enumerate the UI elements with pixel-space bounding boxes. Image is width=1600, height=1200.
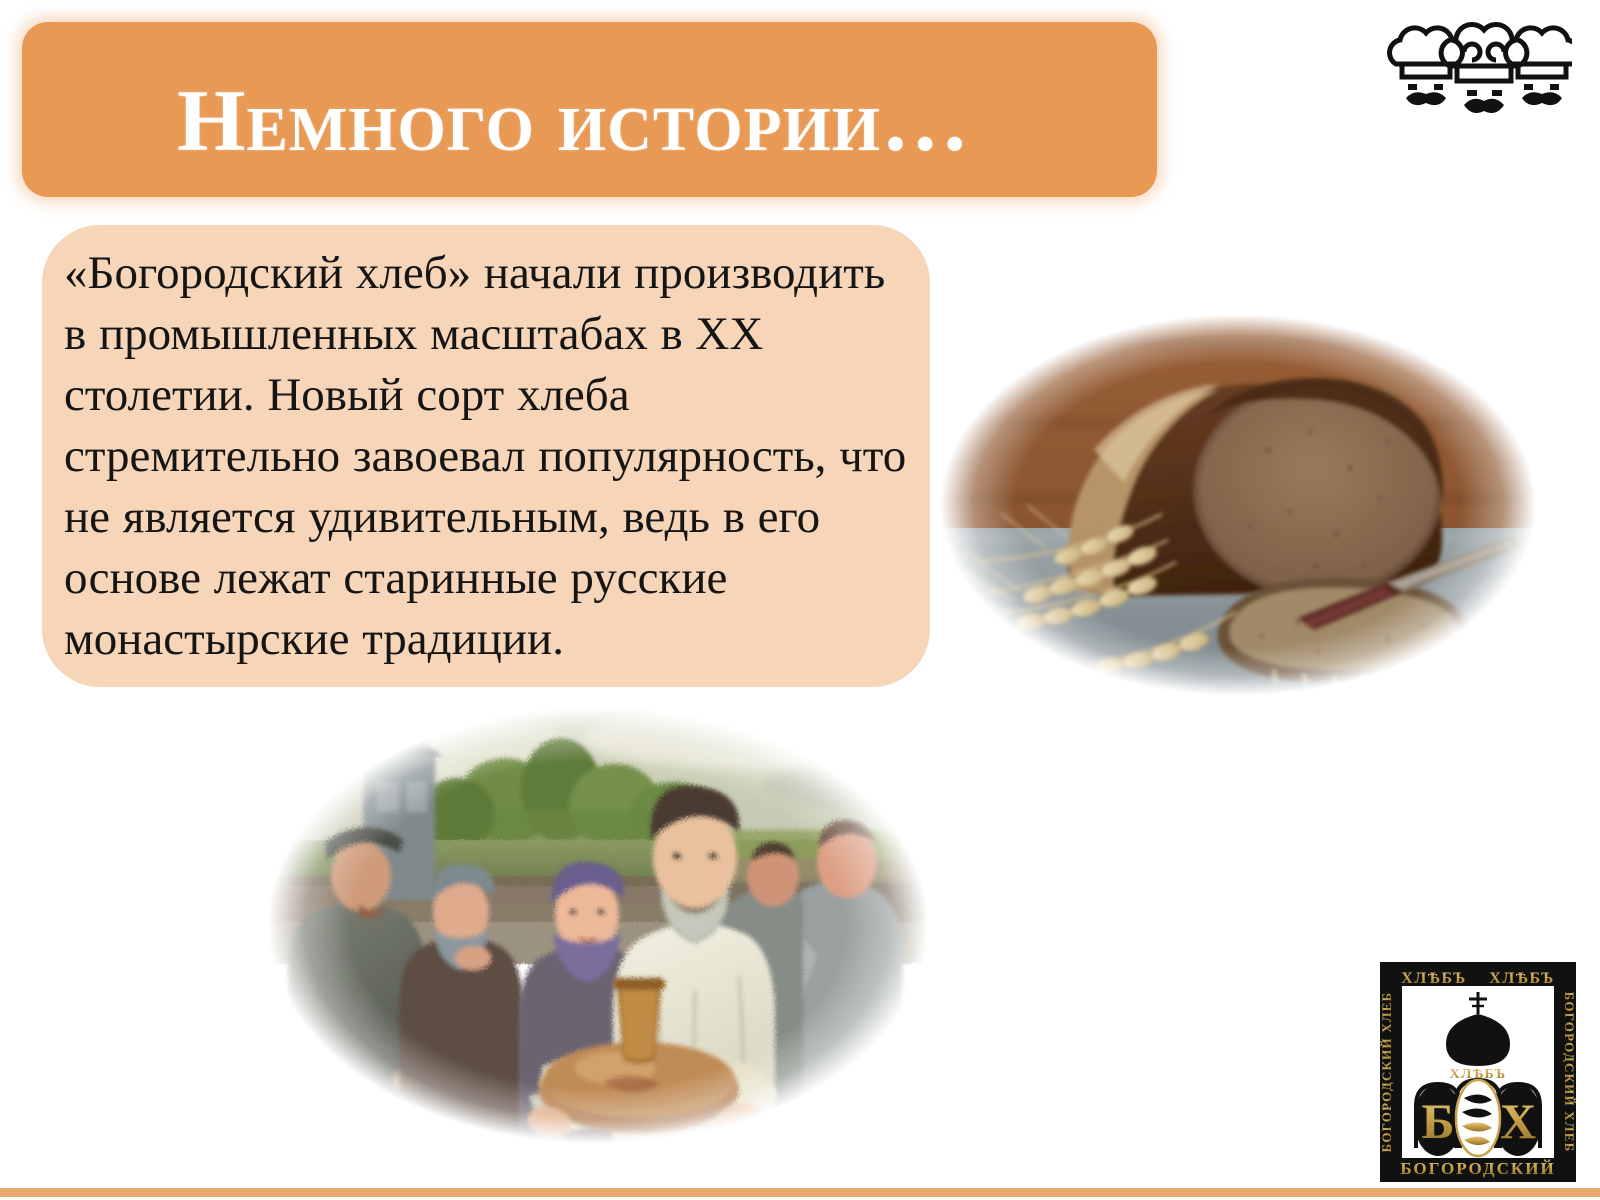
logo-top-left-word: ХЛѢБЪ <box>1401 970 1466 987</box>
logo-border-bottom: БОГОРОДСКИЙ <box>1400 1159 1555 1178</box>
painting-photo-oval <box>243 690 953 1160</box>
logo-monogram-right: Х <box>1500 1093 1536 1149</box>
chef-hats-icon <box>1372 22 1572 122</box>
logo-border-left: БОГОРОДСКИЙ ХЛЕБ <box>1379 992 1394 1153</box>
bread-photo-oval <box>918 300 1558 710</box>
logo-top-right-word: ХЛѢБЪ <box>1489 970 1554 987</box>
logo-border-right: БОГОРОДСКИЙ ХЛЕБ <box>1562 992 1577 1153</box>
title-banner: Немного истории… <box>22 22 1157 197</box>
page-title: Немного истории… <box>177 72 970 172</box>
slide-canvas: Немного истории… <box>0 0 1600 1200</box>
bottom-accent-rule <box>0 1188 1600 1197</box>
body-paragraph: «Богородский хлеб» начали производить в … <box>64 243 910 670</box>
logo-monogram-left: Б <box>1421 1093 1454 1149</box>
company-logo: БОГОРОДСКИЙ ХЛЕБ БОГОРОДСКИЙ ХЛЕБ БОГОРО… <box>1372 952 1584 1190</box>
painting-photo <box>243 690 953 1160</box>
bread-photo <box>918 300 1558 710</box>
body-text-card: «Богородский хлеб» начали производить в … <box>42 225 930 687</box>
